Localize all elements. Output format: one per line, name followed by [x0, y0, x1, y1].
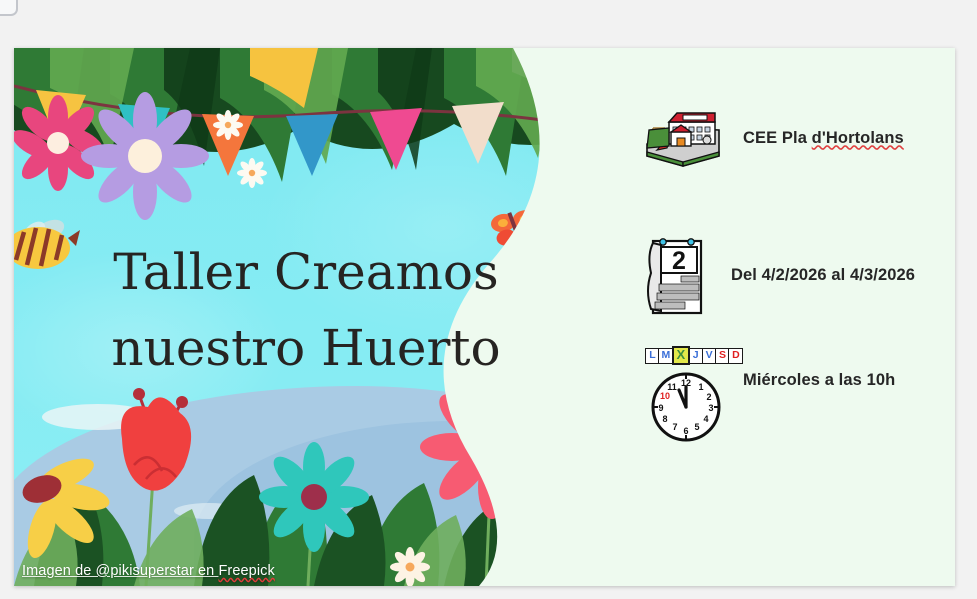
browser-chrome-fragment[interactable] — [0, 0, 18, 16]
clock-wrapper: 12 1 2 3 4 5 6 7 8 9 11 10 — [643, 367, 895, 445]
svg-text:6: 6 — [683, 426, 688, 436]
flower-teal-icon — [259, 442, 369, 552]
weekday-strip: L M X J V S D — [645, 348, 742, 367]
svg-text:5: 5 — [694, 422, 699, 432]
info-panel: CEE Pla d'Hortolans 2 — [615, 48, 955, 586]
school-name-part2: d'Hortolans — [812, 129, 904, 147]
svg-text:4: 4 — [703, 414, 708, 424]
title-line-1: Taller Creamos — [66, 234, 546, 310]
flower-purple-icon — [81, 92, 209, 220]
weekday-tile-X-selected[interactable]: X — [672, 346, 690, 365]
svg-text:1: 1 — [698, 382, 703, 392]
clock-highlight-hour: 10 — [660, 391, 670, 401]
info-row-time: L M X J V S D — [643, 348, 895, 445]
image-credit: Imagen de @pikisuperstar en Freepick — [14, 557, 534, 586]
page-root: Imagen de @pikisuperstar en Freepick Tal… — [0, 0, 977, 599]
svg-text:8: 8 — [662, 414, 667, 424]
svg-text:7: 7 — [672, 422, 677, 432]
weekday-strip-wrapper: L M X J V S D — [643, 348, 742, 367]
daisy-small-icon — [213, 110, 267, 188]
image-credit-source: Freepick — [218, 563, 274, 579]
svg-text:9: 9 — [658, 403, 663, 413]
info-row-date: 2 Del 4/2/2026 al 4/3/2026 — [643, 233, 915, 317]
calendar-day-number: 2 — [672, 247, 686, 275]
title-line-2: nuestro Huerto — [66, 310, 546, 386]
svg-text:3: 3 — [708, 403, 713, 413]
slide-title: Taller Creamos nuestro Huerto — [66, 234, 546, 386]
time-label: Miércoles a las 10h — [743, 371, 895, 390]
slide-canvas: Imagen de @pikisuperstar en Freepick Tal… — [14, 48, 955, 586]
school-name-label: CEE Pla d'Hortolans — [743, 129, 904, 148]
school-icon — [643, 108, 725, 168]
clock-icon: 12 1 2 3 4 5 6 7 8 9 11 10 — [643, 367, 729, 445]
image-credit-text: Imagen de @pikisuperstar en — [22, 563, 218, 579]
flower-red-icon — [121, 388, 191, 491]
info-row-school: CEE Pla d'Hortolans — [643, 108, 904, 168]
svg-text:2: 2 — [706, 392, 711, 402]
weekday-tile-D[interactable]: D — [728, 348, 743, 364]
school-name-part1: CEE Pla — [743, 129, 812, 147]
calendar-icon: 2 — [643, 233, 707, 317]
flower-pink-icon — [14, 95, 108, 191]
date-range-label: Del 4/2/2026 al 4/3/2026 — [731, 266, 915, 285]
